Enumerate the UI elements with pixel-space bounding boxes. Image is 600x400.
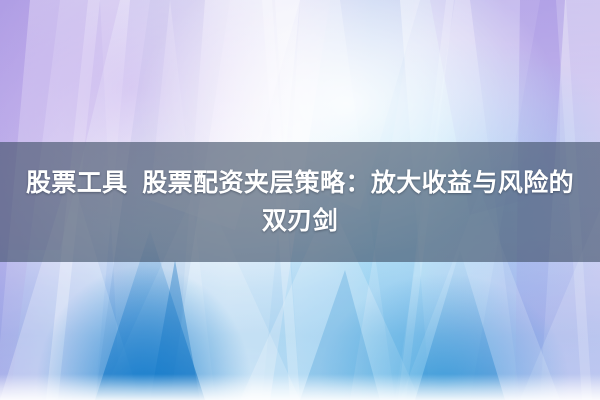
article-banner-image: 股票工具 股票配资夹层策略：放大收益与风险的双刃剑 <box>0 0 600 400</box>
bottom-fade-overlay <box>0 374 600 400</box>
banner-title: 股票工具 股票配资夹层策略：放大收益与风险的双刃剑 <box>20 164 580 240</box>
title-overlay-band: 股票工具 股票配资夹层策略：放大收益与风险的双刃剑 <box>0 142 600 262</box>
